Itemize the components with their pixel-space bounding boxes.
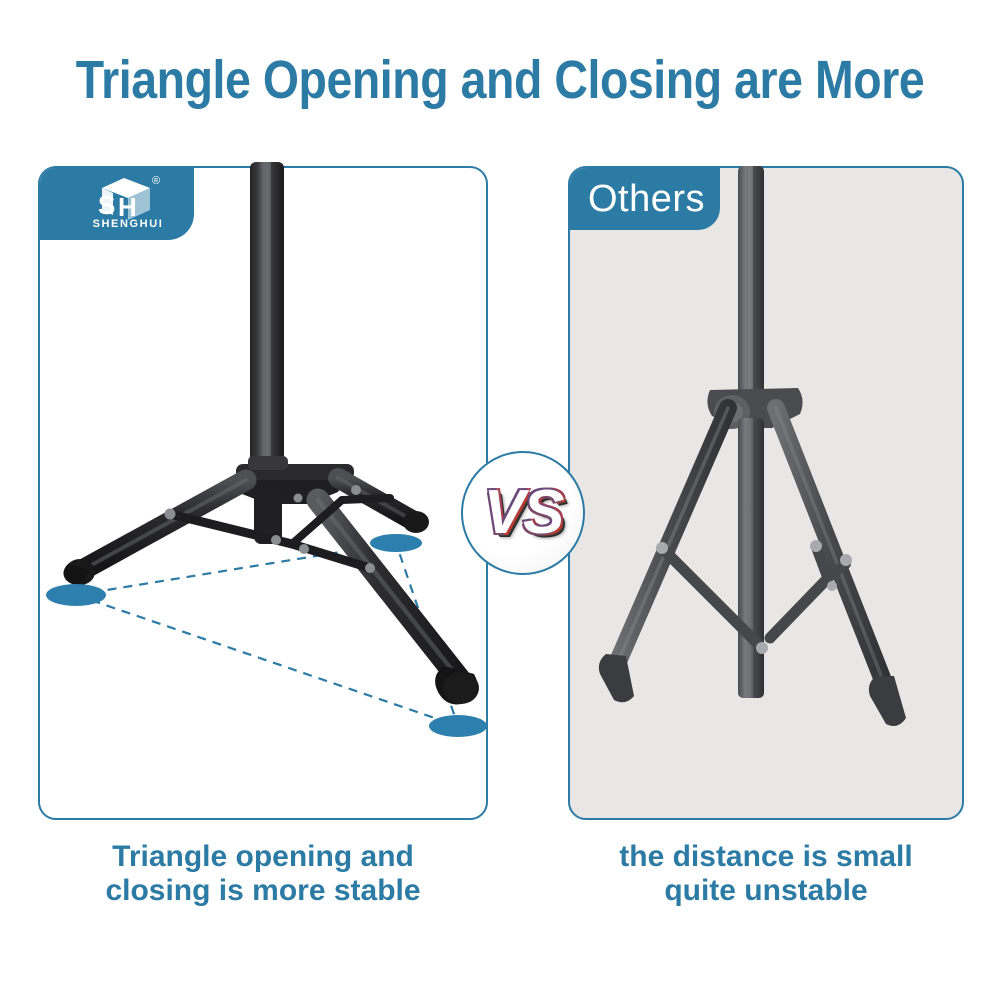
others-label: Others	[588, 175, 705, 223]
page-title: Triangle Opening and Closing are More	[70, 52, 930, 109]
svg-text:S: S	[98, 190, 115, 220]
comparison-panel-right: Others	[568, 166, 964, 820]
svg-text:H: H	[118, 192, 137, 220]
others-badge: Others	[570, 168, 720, 230]
brand-name-label: SHENGHUI	[88, 218, 168, 230]
caption-left-line1: Triangle opening and	[38, 840, 488, 874]
vs-label: VS	[484, 482, 563, 544]
product-image-shenghui-tripod	[40, 168, 490, 822]
caption-left-line2: closing is more stable	[38, 874, 488, 908]
comparison-panel-left: S H ® SHENGHUI	[38, 166, 488, 820]
caption-right: the distance is small quite unstable	[568, 840, 964, 908]
tripod-pole	[738, 166, 764, 428]
foot-marker	[370, 534, 422, 552]
tripod-pole	[250, 162, 284, 492]
caption-right-line1: the distance is small	[568, 840, 964, 874]
stance-triangle-annotation	[76, 543, 458, 726]
sh-cube-logo-icon: S H	[88, 176, 162, 220]
foot-marker	[46, 584, 106, 606]
tripod-legs	[599, 408, 906, 726]
brand-badge: S H ® SHENGHUI	[40, 168, 194, 240]
foot-marker	[429, 715, 487, 737]
product-image-others-tripod	[570, 168, 966, 822]
registered-trademark-icon: ®	[152, 176, 160, 187]
caption-left: Triangle opening and closing is more sta…	[38, 840, 488, 908]
caption-right-line2: quite unstable	[568, 874, 964, 908]
vs-badge: VS	[461, 451, 585, 575]
